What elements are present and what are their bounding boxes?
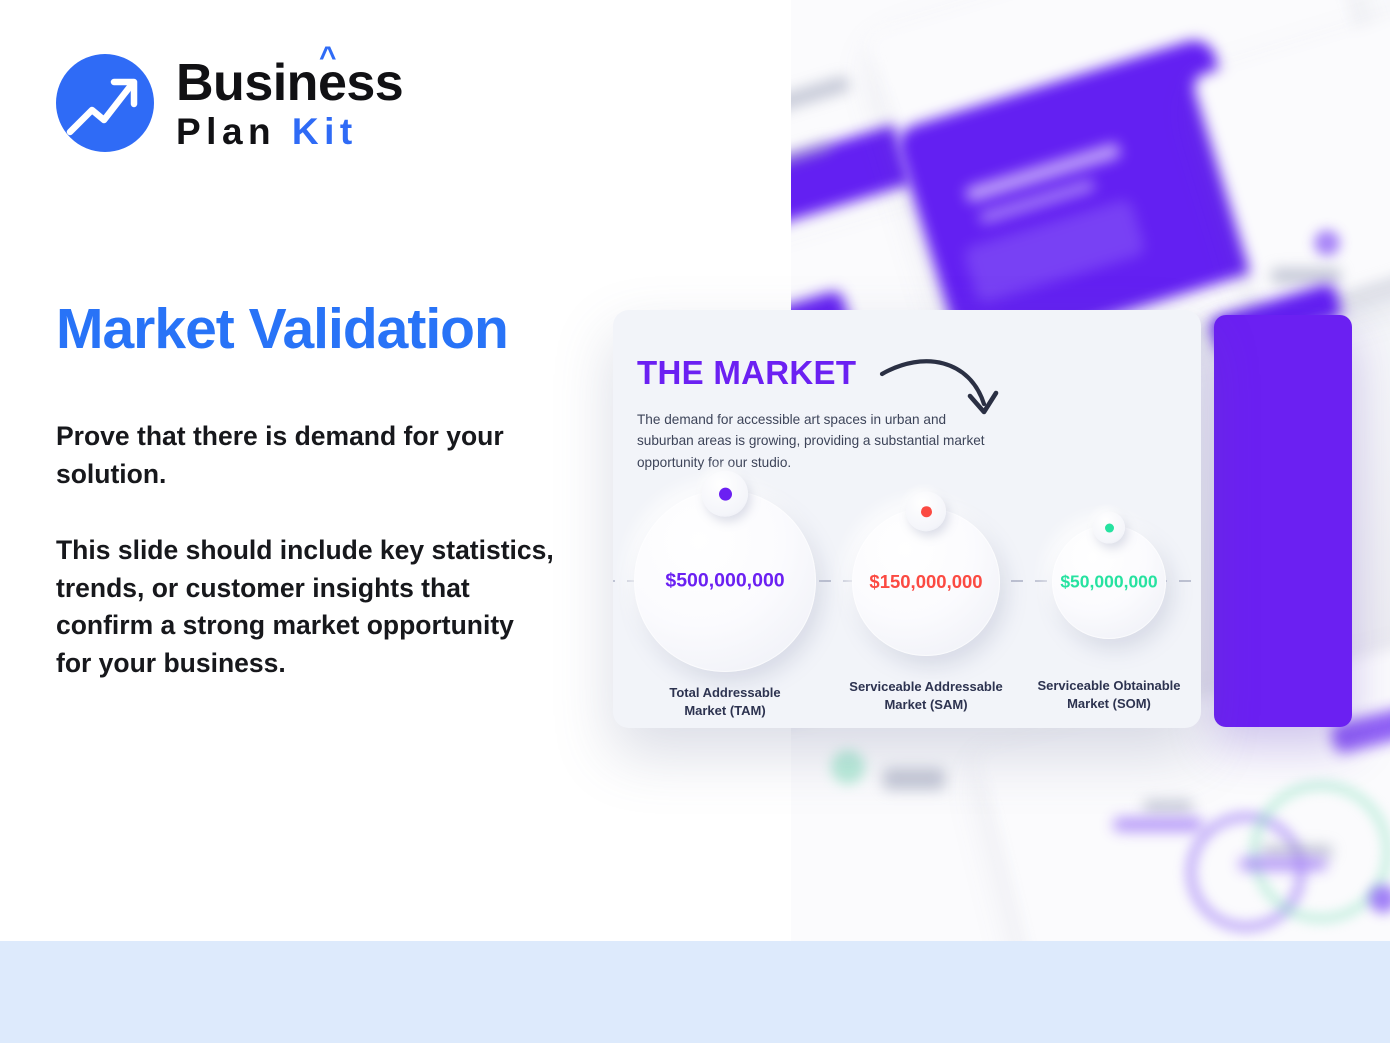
- dial-tam-value: $500,000,000: [634, 570, 816, 593]
- dial-tam-caption-line2: Market (TAM): [625, 702, 825, 720]
- bottom-accent-bar: [0, 941, 1390, 1043]
- slide-root: Business ^ Plan Kit Market Validation Pr…: [0, 0, 1390, 1043]
- dial-tam-caption-line1: Total Addressable: [625, 684, 825, 702]
- market-preview-card: THE MARKET The demand for accessible art…: [613, 310, 1201, 728]
- sam-indicator-dot: [921, 506, 932, 517]
- market-dial-row: $500,000,000 Total Addressable Market (T…: [613, 486, 1201, 716]
- tam-indicator-dot: [719, 487, 732, 500]
- dial-sam-caption: Serviceable Addressable Market (SAM): [826, 678, 1026, 713]
- market-card-title: THE MARKET: [637, 354, 856, 392]
- page-title: Market Validation: [56, 296, 508, 362]
- dial-som-value: $50,000,000: [1052, 572, 1166, 593]
- brand-caret-accent: ^: [319, 43, 336, 73]
- dial-tam-caption: Total Addressable Market (TAM): [625, 684, 825, 719]
- dial-som-caption-line1: Serviceable Obtainable: [1009, 677, 1201, 695]
- brand-name-line1: Business ^: [176, 57, 403, 109]
- brand-kit-text: Kit: [292, 111, 358, 152]
- brand-plan-text: Plan: [176, 111, 292, 152]
- decorative-purple-slab: [1214, 315, 1352, 727]
- dial-sam-caption-line1: Serviceable Addressable: [826, 678, 1026, 696]
- growth-arrow-circle-icon: [56, 54, 154, 152]
- dial-sam-caption-line2: Market (SAM): [826, 696, 1026, 714]
- brand-name-line2: Plan Kit: [176, 113, 403, 150]
- curved-down-arrow-icon: [878, 352, 1008, 437]
- slide-paragraph-1: Prove that there is demand for your solu…: [56, 418, 576, 493]
- brand-logo: Business ^ Plan Kit: [56, 54, 403, 152]
- slide-paragraph-2: This slide should include key statistics…: [56, 532, 556, 683]
- dial-som[interactable]: $50,000,000 Serviceable Obtainable Marke…: [1009, 525, 1201, 712]
- dial-som-caption: Serviceable Obtainable Market (SOM): [1009, 677, 1201, 712]
- dial-tam[interactable]: $500,000,000 Total Addressable Market (T…: [625, 490, 825, 719]
- som-indicator-dot: [1105, 523, 1114, 532]
- dial-som-caption-line2: Market (SOM): [1009, 695, 1201, 713]
- dial-sam[interactable]: $150,000,000 Serviceable Addressable Mar…: [826, 508, 1026, 713]
- dial-sam-value: $150,000,000: [852, 571, 1000, 593]
- brand-name-text: Business: [176, 54, 403, 112]
